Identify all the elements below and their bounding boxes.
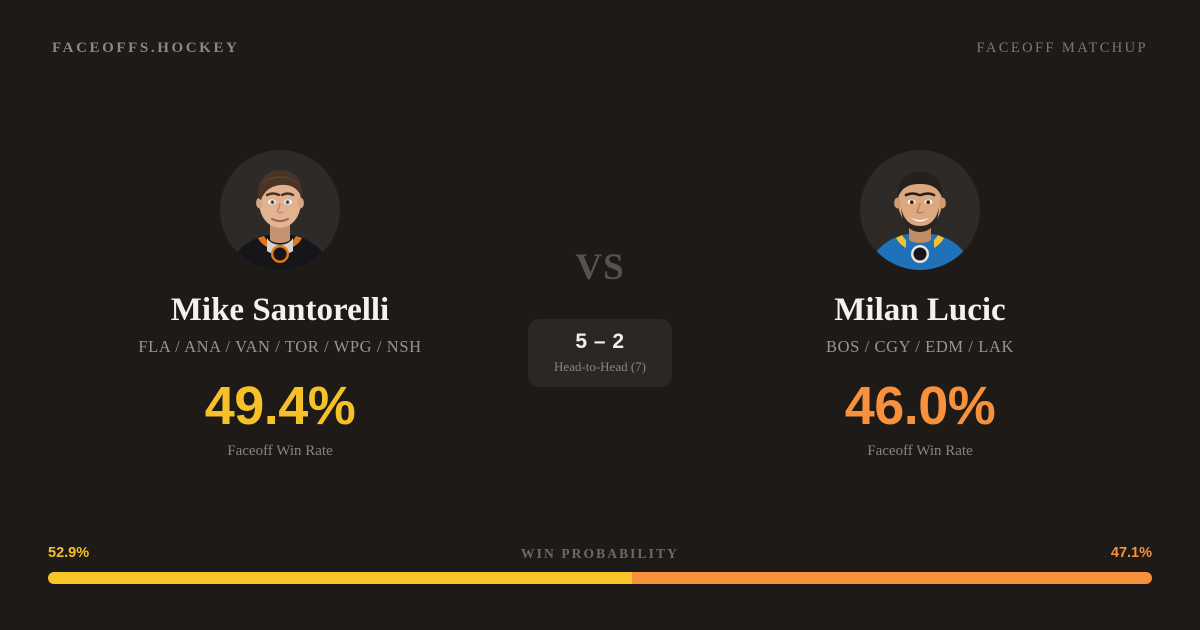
player-teams-left: FLA / ANA / VAN / TOR / WPG / NSH <box>138 337 421 357</box>
player-winrate-left: 49.4% <box>205 379 356 433</box>
head-to-head-score: 5 – 2 <box>575 330 624 354</box>
player-card-right[interactable]: Milan Lucic BOS / CGY / EDM / LAK 46.0% … <box>700 150 1140 460</box>
player-card-left[interactable]: Mike Santorelli FLA / ANA / VAN / TOR / … <box>60 150 500 460</box>
player-teams-right: BOS / CGY / EDM / LAK <box>826 337 1014 357</box>
players-row: Mike Santorelli FLA / ANA / VAN / TOR / … <box>0 150 1200 480</box>
win-probability-bar <box>48 572 1152 584</box>
versus-block: VS 5 – 2 Head-to-Head (7) <box>500 150 700 387</box>
player-name-right: Milan Lucic <box>834 292 1005 328</box>
head-to-head-badge: 5 – 2 Head-to-Head (7) <box>528 319 672 387</box>
site-logo: FACEOFFS.HOCKEY <box>52 40 239 57</box>
vs-label: VS <box>575 246 624 289</box>
header-bar: FACEOFFS.HOCKEY FACEOFF MATCHUP <box>0 0 1200 96</box>
player-name-left: Mike Santorelli <box>171 292 389 328</box>
win-probability-bar-right <box>632 572 1152 584</box>
win-probability-section: 52.9% WIN PROBABILITY 47.1% <box>48 545 1152 584</box>
player-winrate-right: 46.0% <box>845 379 996 433</box>
player-winrate-label-left: Faceoff Win Rate <box>227 443 332 460</box>
player-headshot-right <box>860 150 980 270</box>
win-probability-title: WIN PROBABILITY <box>48 546 1152 562</box>
win-probability-bar-left <box>48 572 632 584</box>
player-headshot-left <box>220 150 340 270</box>
win-probability-labels: 52.9% WIN PROBABILITY 47.1% <box>48 545 1152 561</box>
matchup-card: FACEOFFS.HOCKEY FACEOFF MATCHUP <box>0 0 1200 630</box>
page-eyebrow: FACEOFF MATCHUP <box>976 40 1148 57</box>
player-winrate-label-right: Faceoff Win Rate <box>867 443 972 460</box>
head-to-head-label: Head-to-Head (7) <box>554 359 646 375</box>
